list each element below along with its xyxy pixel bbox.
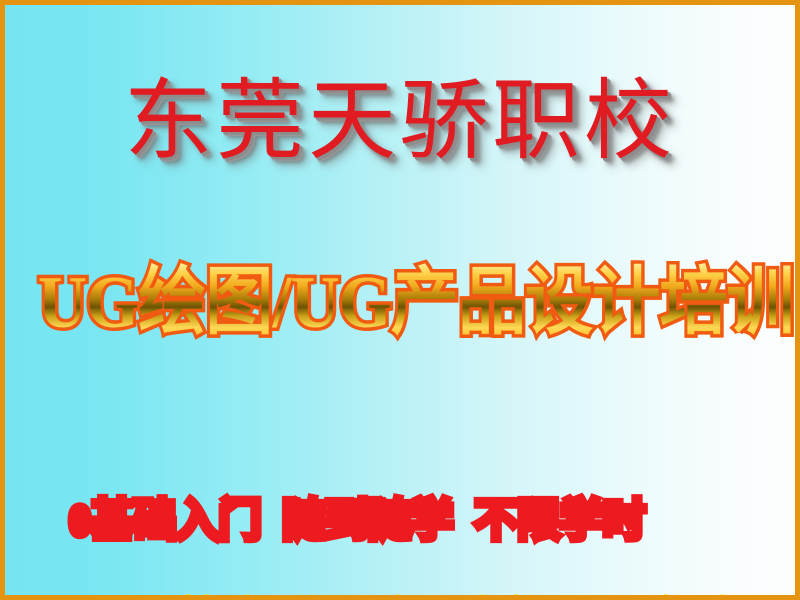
course-subtitle-fill-layer: UG绘图/UG产品设计培训 <box>38 262 794 344</box>
tagline-fill-layer: 0基础入门 随到随学 不限学时 <box>155 593 731 600</box>
poster-content: 东莞天骄职校 UG绘图/UG产品设计培训 UG绘图/UG产品设计培训 0基础入门… <box>5 5 795 595</box>
tagline-outline-layer: 0基础入门 随到随学 不限学时 <box>69 497 645 545</box>
subtitle-container: UG绘图/UG产品设计培训 UG绘图/UG产品设计培训 <box>5 263 795 363</box>
page-title: 东莞天骄职校 <box>5 79 795 167</box>
poster-canvas: 东莞天骄职校 UG绘图/UG产品设计培训 UG绘图/UG产品设计培训 0基础入门… <box>0 0 800 600</box>
course-subtitle: UG绘图/UG产品设计培训 UG绘图/UG产品设计培训 <box>38 263 794 344</box>
tagline-container: 0基础入门 随到随学 不限学时 0基础入门 随到随学 不限学时 <box>5 497 795 557</box>
tagline: 0基础入门 随到随学 不限学时 0基础入门 随到随学 不限学时 <box>69 497 731 600</box>
